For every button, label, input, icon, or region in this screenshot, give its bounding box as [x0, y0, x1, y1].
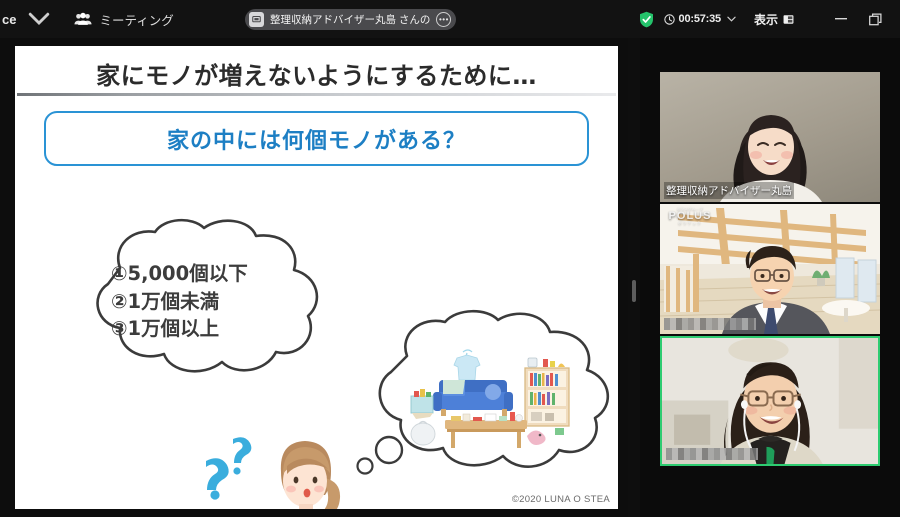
view-layout-label: 表示: [754, 11, 778, 28]
meeting-toolbar: ce ミーティング: [0, 0, 900, 38]
messy-room-illustration: [407, 346, 582, 456]
toolbar-right-group: 00:57:35 表示: [639, 0, 900, 38]
participant-name-label-redacted: [664, 318, 756, 330]
thinking-woman-illustration: [263, 434, 348, 509]
participant-tile[interactable]: 整理収納アドバイザー丸島: [660, 72, 880, 202]
meeting-tab-label: ミーティング: [99, 10, 173, 29]
participant-video-panel: 整理収納アドバイザー丸島: [640, 38, 900, 517]
question-callout-box: 家の中には何個モノがある？: [44, 111, 589, 166]
more-options-icon[interactable]: •••: [436, 12, 451, 27]
toolbar-left-group: ce ミーティング: [0, 8, 174, 30]
participant-name-label-redacted: [666, 448, 758, 460]
screen-share-label: 整理収納アドバイザー丸島 さんの: [270, 12, 430, 27]
polus-watermark: ポラスグループ POLUS ポラテック: [666, 208, 714, 226]
list-item: ③1万個以上: [111, 315, 351, 343]
panel-resize-handle[interactable]: [632, 280, 636, 302]
view-layout-button[interactable]: 表示: [754, 11, 794, 28]
chevron-down-icon[interactable]: [28, 8, 50, 30]
shared-screen-area[interactable]: 家にモノが増えないようにするために… 家の中には何個モノがある？ ①5,000個…: [0, 38, 628, 517]
copyright-notice: ©2020 LUNA O STEA: [512, 494, 610, 505]
title-divider: [17, 93, 616, 96]
timer-value: 00:57:35: [679, 13, 721, 25]
screen-share-indicator[interactable]: 整理収納アドバイザー丸島 さんの •••: [245, 9, 456, 30]
workspace-name-label[interactable]: ce: [0, 12, 16, 27]
participant-name-label: 整理収納アドバイザー丸島: [664, 182, 794, 199]
layout-icon: [783, 14, 794, 25]
polus-watermark-bottom: ポラテック: [666, 222, 714, 225]
green-shield-icon[interactable]: [639, 11, 654, 28]
meeting-window: ce ミーティング: [0, 0, 900, 517]
participant-tile[interactable]: ポラスグループ POLUS ポラテック: [660, 204, 880, 334]
restore-button[interactable]: [858, 0, 892, 38]
screen-share-icon: [249, 12, 264, 27]
presentation-slide: 家にモノが増えないようにするために… 家の中には何個モノがある？ ①5,000個…: [15, 46, 618, 509]
meeting-timer[interactable]: 00:57:35: [664, 13, 736, 25]
question-callout-text: 家の中には何個モノがある？: [167, 123, 466, 155]
minimize-button[interactable]: [824, 0, 858, 38]
answer-options-list: ①5,000個以下 ②1万個未満 ③1万個以上: [111, 260, 351, 343]
people-icon: [74, 10, 92, 28]
chevron-down-icon[interactable]: [727, 15, 736, 24]
window-edge: [892, 0, 900, 38]
list-item: ②1万個未満: [111, 288, 351, 316]
meeting-tab[interactable]: ミーティング: [74, 10, 173, 29]
list-item: ①5,000個以下: [111, 260, 351, 288]
page-title: 家にモノが増えないようにするために…: [15, 56, 618, 91]
participant-tile-active-speaker[interactable]: [660, 336, 880, 466]
clock-icon: [664, 14, 675, 25]
